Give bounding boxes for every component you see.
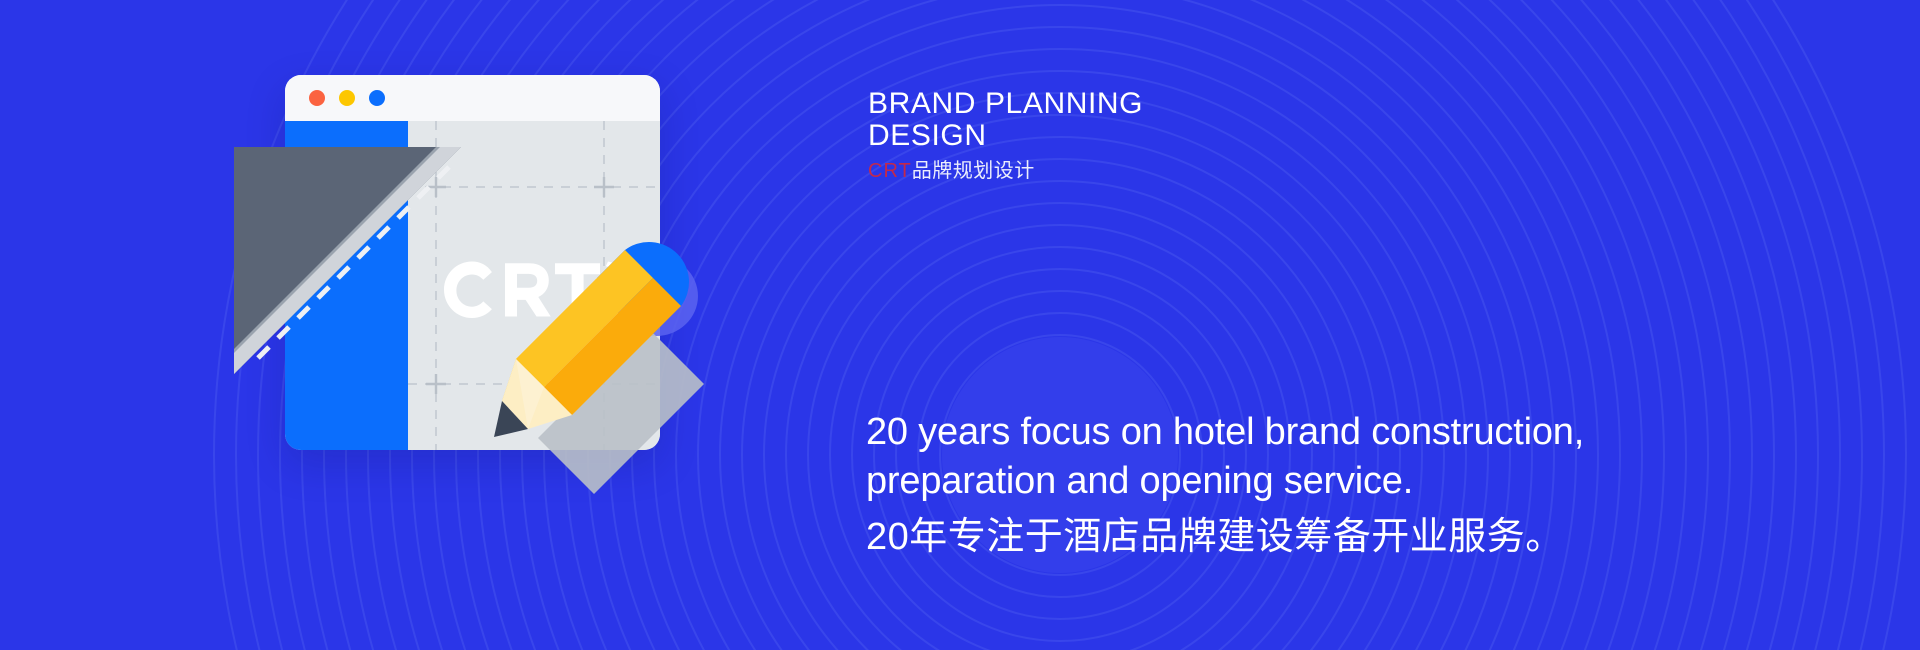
window-titlebar bbox=[285, 75, 660, 121]
eyebrow-text-block: BRAND PLANNING DESIGN CRT品牌规划设计 bbox=[868, 88, 1628, 183]
design-illustration bbox=[230, 75, 750, 575]
maximize-dot[interactable] bbox=[369, 90, 385, 106]
eyebrow-chinese-title: CRT品牌规划设计 bbox=[868, 159, 1628, 183]
minimize-dot[interactable] bbox=[339, 90, 355, 106]
brand-name-crt: CRT bbox=[868, 160, 912, 182]
pencil-icon bbox=[480, 230, 715, 465]
close-dot[interactable] bbox=[309, 90, 325, 106]
brand-banner: BRAND PLANNING DESIGN CRT品牌规划设计 20 years… bbox=[0, 0, 1920, 650]
eyebrow-chinese-label: 品牌规划设计 bbox=[912, 160, 1035, 182]
headline-chinese: 20年专注于酒店品牌建设筹备开业服务。 bbox=[866, 514, 1796, 562]
window-control-dots bbox=[309, 90, 385, 106]
headline-english: 20 years focus on hotel brand constructi… bbox=[866, 408, 1796, 505]
headline-text-block: 20 years focus on hotel brand constructi… bbox=[866, 408, 1796, 562]
triangle-ruler-icon bbox=[230, 143, 465, 378]
eyebrow-english-title: BRAND PLANNING DESIGN bbox=[868, 88, 1628, 152]
